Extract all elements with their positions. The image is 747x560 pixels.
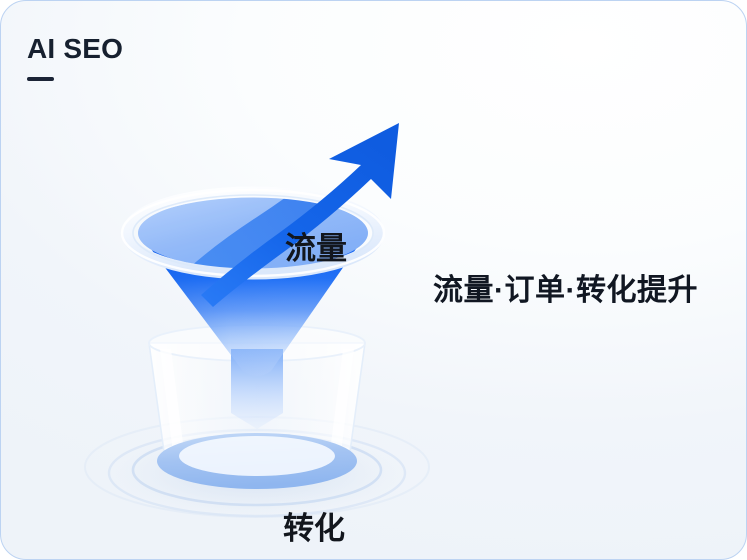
- cup-base: [157, 433, 357, 489]
- title-underline-accent: [27, 77, 54, 81]
- label-traffic: 流量: [285, 233, 347, 264]
- page-title: AI SEO: [27, 35, 347, 63]
- brand-block: AI SEO: [27, 35, 347, 81]
- label-conversion: 转化: [283, 513, 345, 544]
- poster-canvas: AI SEO 流量·订单·转化提升: [0, 0, 747, 560]
- tagline-text: 流量·订单·转化提升: [433, 273, 698, 309]
- seo-funnel-illustration: 流量 转化: [61, 81, 461, 541]
